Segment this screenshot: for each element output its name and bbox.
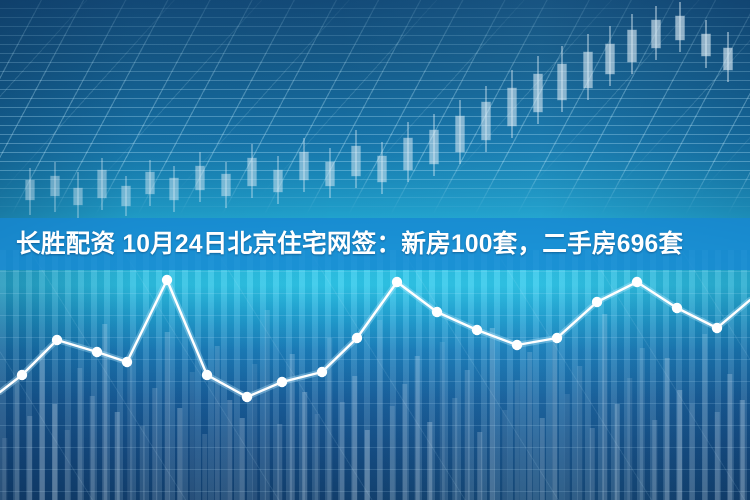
banner-image: 长胜配资 10月24日北京住宅网签：新房100套，二手房696套: [0, 0, 750, 500]
lower-grid-horizontal-lines: [0, 250, 750, 500]
line-marker: [432, 307, 442, 317]
line-marker: [592, 297, 602, 307]
line-marker: [162, 275, 172, 285]
line-marker: [632, 277, 642, 287]
line-marker: [512, 340, 522, 350]
trend-line-series: [0, 275, 750, 402]
line-marker: [277, 377, 287, 387]
lower-grid-diagonal-lines: [0, 250, 750, 500]
line-marker: [392, 277, 402, 287]
line-marker: [672, 303, 682, 313]
perspective-grid-diagonal-lines: [0, 0, 750, 215]
line-marker: [122, 357, 132, 367]
line-marker: [242, 392, 252, 402]
dense-vertical-bars: [0, 250, 750, 500]
line-marker: [17, 370, 27, 380]
line-marker: [472, 325, 482, 335]
line-marker: [202, 370, 212, 380]
line-marker: [317, 367, 327, 377]
headline-text: 长胜配资 10月24日北京住宅网签：新房100套，二手房696套: [16, 232, 683, 257]
accent-bar-series: [2, 310, 745, 500]
line-marker: [52, 335, 62, 345]
line-marker: [92, 347, 102, 357]
line-marker: [552, 333, 562, 343]
line-marker: [352, 333, 362, 343]
candlestick-series: [26, 2, 733, 218]
headline-banner-band: 长胜配资 10月24日北京住宅网签：新房100套，二手房696套: [0, 218, 750, 270]
perspective-grid-secondary-diagonals: [0, 0, 750, 200]
perspective-grid-horizontal-lines: [0, 0, 750, 215]
line-marker: [712, 323, 722, 333]
